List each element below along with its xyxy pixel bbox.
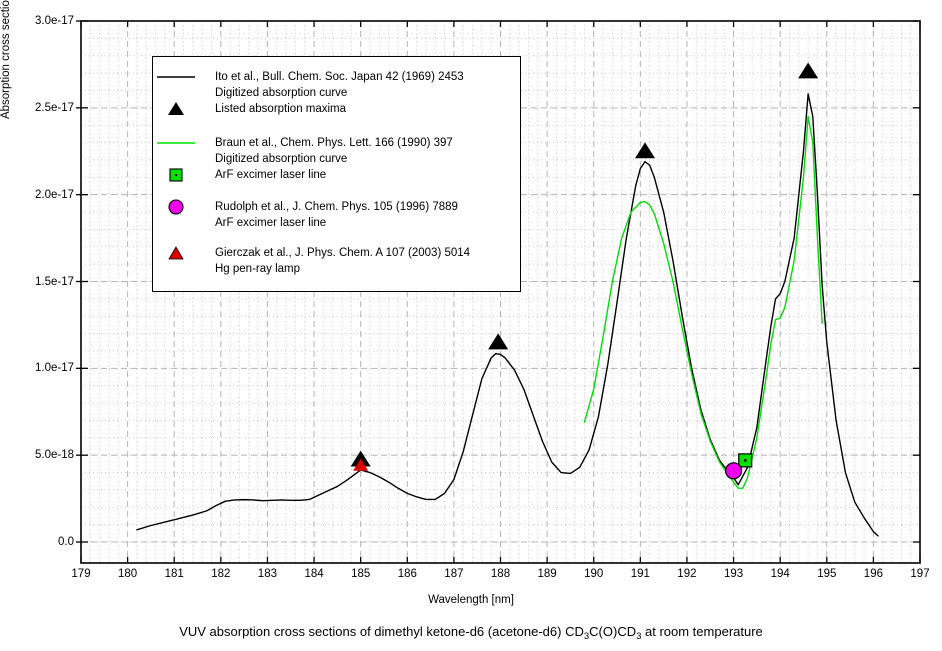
y-tick-label: 2.5e-17: [35, 102, 74, 114]
x-tick-label: 190: [584, 568, 603, 580]
y-tick-label: 5.0e-18: [35, 449, 74, 461]
legend-label-line-1: Ito et al., Bull. Chem. Soc. Japan 42 (1…: [215, 69, 464, 85]
figure-container: Absorption cross section [cm2 · molecule…: [0, 0, 942, 651]
x-tick-label: 179: [71, 568, 90, 580]
legend-key: [153, 135, 215, 151]
marker-absorption-maximum: [799, 63, 818, 78]
legend-triangle-maxima: [153, 101, 199, 117]
x-tick-label: 189: [538, 568, 557, 580]
figure-caption: VUV absorption cross sections of dimethy…: [0, 624, 942, 639]
x-tick-label: 183: [258, 568, 277, 580]
x-tick-label: 188: [491, 568, 510, 580]
legend-label: Gierczak et al., J. Phys. Chem. A 107 (2…: [215, 245, 470, 277]
x-tick-label: 193: [724, 568, 743, 580]
y-axis-label-text-a: Absorption cross section [cm: [0, 0, 12, 119]
legend-label-line-2: Digitized absorption curve: [215, 151, 453, 167]
legend-label-line-1: Braun et al., Chem. Phys. Lett. 166 (199…: [215, 135, 453, 151]
legend-label: Rudolph et al., J. Chem. Phys. 105 (1996…: [215, 199, 458, 231]
y-tick-label: 1.5e-17: [35, 276, 74, 288]
legend-key: [153, 199, 215, 215]
x-tick-label: 196: [864, 568, 883, 580]
legend-circle-rudolph: [153, 199, 199, 215]
legend-label-line-1: Rudolph et al., J. Chem. Phys. 105 (1996…: [215, 199, 458, 215]
legend-label-line-1: ArF excimer laser line: [215, 167, 326, 183]
x-tick-label: 191: [631, 568, 650, 580]
legend-key: [153, 245, 215, 261]
caption-text-c: at room temperature: [641, 624, 762, 639]
x-tick-label: 197: [910, 568, 929, 580]
x-tick-label: 192: [677, 568, 696, 580]
caption-sub-2: 3: [636, 631, 641, 642]
legend-label-line-2: Hg pen-ray lamp: [215, 261, 470, 277]
legend-triangle-gierczak: [153, 245, 199, 261]
curve-braun: [584, 117, 822, 489]
legend-line-braun: [153, 135, 199, 151]
legend-label-line-1: Gierczak et al., J. Phys. Chem. A 107 (2…: [215, 245, 470, 261]
y-tick-label: 1.0e-17: [35, 362, 74, 374]
y-tick-label: 2.0e-17: [35, 189, 74, 201]
caption-text-b: C(O)CD: [589, 624, 636, 639]
legend-label: Listed absorption maxima: [215, 101, 346, 117]
y-tick-label: 0.0: [58, 536, 74, 548]
x-tick-label: 187: [444, 568, 463, 580]
x-tick-label: 181: [165, 568, 184, 580]
marker-absorption-maximum: [636, 143, 655, 158]
legend-box: Ito et al., Bull. Chem. Soc. Japan 42 (1…: [152, 56, 521, 292]
x-tick-label: 182: [211, 568, 230, 580]
x-tick-label: 194: [771, 568, 790, 580]
legend-label: Braun et al., Chem. Phys. Lett. 166 (199…: [215, 135, 453, 167]
legend-label-line-2: Digitized absorption curve: [215, 85, 464, 101]
x-axis-label: Wavelength [nm]: [0, 594, 942, 606]
legend-line-ito: [153, 69, 199, 85]
caption-sub-1: 3: [584, 631, 589, 642]
x-tick-label: 186: [398, 568, 417, 580]
x-tick-label: 195: [817, 568, 836, 580]
x-tick-label: 184: [305, 568, 324, 580]
legend-label-line-1: Listed absorption maxima: [215, 101, 346, 117]
x-tick-label: 180: [118, 568, 137, 580]
y-tick-label: 3.0e-17: [35, 15, 74, 27]
marker-arf-laser-square-center: [744, 459, 746, 461]
legend-label-line-2: ArF excimer laser line: [215, 215, 458, 231]
x-tick-label: 185: [351, 568, 370, 580]
legend-label: ArF excimer laser line: [215, 167, 326, 183]
marker-rudolph-laser-circle: [726, 463, 742, 479]
caption-text-a: VUV absorption cross sections of dimethy…: [179, 624, 584, 639]
legend-key: [153, 69, 215, 85]
legend-key: [153, 167, 215, 183]
legend-label: Ito et al., Bull. Chem. Soc. Japan 42 (1…: [215, 69, 464, 101]
legend-key: [153, 101, 215, 117]
legend-square-arf: [153, 167, 199, 183]
y-axis-label: Absorption cross section [cm2 · molecule…: [0, 0, 12, 150]
